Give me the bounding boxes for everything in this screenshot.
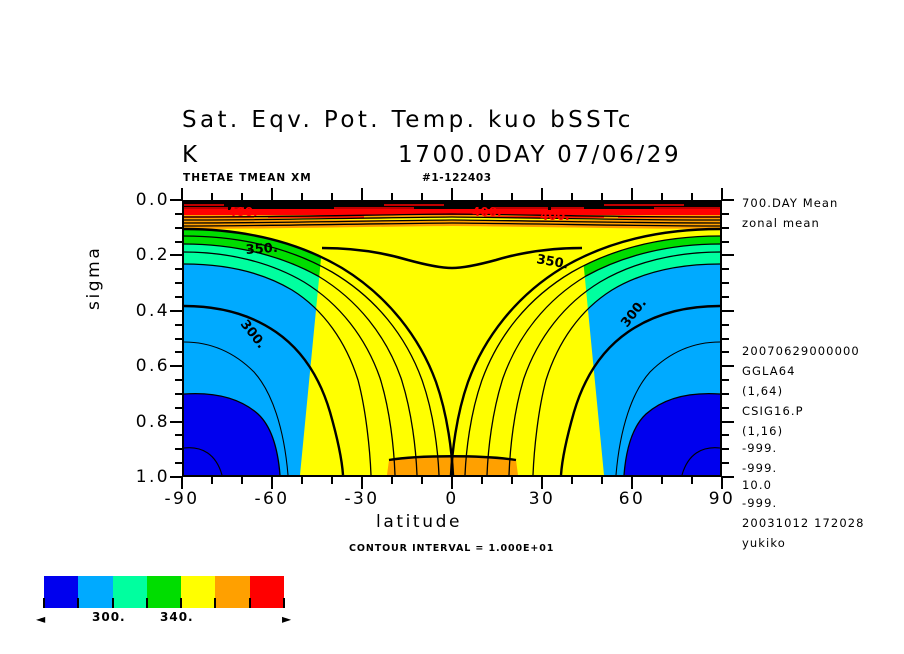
colorbar-swatch [44, 576, 78, 608]
y-minor-tick-left [175, 296, 182, 298]
x-minor-tick [571, 477, 573, 484]
x-minor-tick-top [601, 193, 603, 200]
y-minor-tick-left [175, 241, 182, 243]
x-minor-tick-top [391, 193, 393, 200]
x-minor-tick-top [421, 193, 423, 200]
x-minor-tick [601, 477, 603, 484]
colorbar-tick [180, 598, 182, 608]
x-major-tick-top [271, 188, 273, 200]
y-major-tick-right [722, 310, 734, 312]
y-minor-tick-right [722, 241, 729, 243]
colorbar-label-300: 300. [92, 610, 126, 624]
x-tick-label: -90 [142, 489, 222, 509]
y-axis-title: sigma [84, 246, 104, 310]
y-minor-tick-right [722, 462, 729, 464]
y-minor-tick-left [175, 351, 182, 353]
y-minor-tick-left [175, 213, 182, 215]
y-minor-tick-right [722, 213, 729, 215]
y-minor-tick-left [175, 324, 182, 326]
x-major-tick-top [541, 188, 543, 200]
colorbar-low-arrow: ◄ [36, 612, 45, 626]
y-minor-tick-left [175, 434, 182, 436]
y-minor-tick-right [722, 282, 729, 284]
y-minor-tick-left [175, 227, 182, 229]
x-minor-tick [691, 477, 693, 484]
y-minor-tick-right [722, 268, 729, 270]
x-minor-tick-top [571, 193, 573, 200]
y-minor-tick-left [175, 462, 182, 464]
y-major-tick [170, 310, 182, 312]
y-minor-tick-left [175, 379, 182, 381]
x-major-tick [721, 477, 723, 489]
y-minor-tick-right [722, 393, 729, 395]
x-major-tick [181, 477, 183, 489]
svg-text:350.: 350. [245, 241, 278, 258]
colorbar-tick [249, 598, 251, 608]
x-minor-tick-top [691, 193, 693, 200]
x-minor-tick-top [331, 193, 333, 200]
annotation-interval: 10.0 [742, 478, 772, 492]
y-minor-tick-right [722, 227, 729, 229]
x-tick-label: -60 [232, 489, 312, 509]
x-major-tick-top [361, 188, 363, 200]
colorbar-tick [214, 598, 216, 608]
y-minor-tick-left [175, 393, 182, 395]
x-tick-label: -30 [322, 489, 402, 509]
y-minor-tick-right [722, 434, 729, 436]
svg-text:400.: 400. [472, 205, 502, 219]
x-minor-tick-top [211, 193, 213, 200]
x-tick-label: 0 [412, 489, 492, 509]
x-minor-tick-top [301, 193, 303, 200]
x-tick-label: 30 [502, 489, 582, 509]
x-minor-tick [481, 477, 483, 484]
y-minor-tick-left [175, 448, 182, 450]
y-major-tick [170, 421, 182, 423]
annotation-missing-1: -999. [742, 441, 777, 455]
y-tick-label: 1.0 [108, 467, 170, 487]
x-minor-tick [421, 477, 423, 484]
annotation-grid-range: (1,64) [742, 384, 783, 398]
y-tick-label: 0.8 [108, 412, 170, 432]
y-minor-tick-right [722, 407, 729, 409]
y-minor-tick-right [722, 324, 729, 326]
x-minor-tick-top [481, 193, 483, 200]
y-major-tick-right [722, 254, 734, 256]
y-tick-label: 0.4 [108, 301, 170, 321]
y-minor-tick-right [722, 379, 729, 381]
annotation-mean-period: 700.DAY Mean [742, 196, 838, 210]
contour-interval-label: CONTOUR INTERVAL = 1.000E+01 [349, 543, 554, 554]
x-minor-tick-top [511, 193, 513, 200]
x-minor-tick-top [661, 193, 663, 200]
colorbar-swatch [113, 576, 147, 608]
colorbar-swatch [181, 576, 215, 608]
y-minor-tick-left [175, 338, 182, 340]
annotation-datetime: 20070629000000 [742, 344, 860, 358]
y-minor-tick-left [175, 407, 182, 409]
x-major-tick [271, 477, 273, 489]
units-label: K [182, 142, 200, 168]
x-major-tick [361, 477, 363, 489]
annotation-missing-3: -999. [742, 496, 777, 510]
x-major-tick-top [721, 188, 723, 200]
annotation-created: 20031012 172028 [742, 516, 865, 530]
colorbar-tick [283, 598, 285, 608]
x-major-tick-top [181, 188, 183, 200]
x-tick-label: 60 [592, 489, 672, 509]
run-id-subheader: #1-122403 [422, 172, 492, 184]
contour-field: 350. 350. 300. 300. 400. 400. 400. [184, 202, 720, 475]
y-tick-label: 0.2 [108, 245, 170, 265]
colorbar-swatch [78, 576, 112, 608]
colorbar-high-arrow: ► [282, 612, 291, 626]
colorbar-tick [112, 598, 114, 608]
x-minor-tick [241, 477, 243, 484]
y-major-tick-right [722, 365, 734, 367]
page-title: Sat. Eqv. Pot. Temp. kuo bSSTc [182, 107, 634, 133]
y-minor-tick-left [175, 282, 182, 284]
y-major-tick-right [722, 199, 734, 201]
y-major-tick [170, 365, 182, 367]
y-minor-tick-right [722, 338, 729, 340]
x-minor-tick [511, 477, 513, 484]
annotation-zonal-mean: zonal mean [742, 216, 820, 230]
x-major-tick-top [631, 188, 633, 200]
y-minor-tick-left [175, 268, 182, 270]
x-major-tick-top [451, 188, 453, 200]
y-minor-tick-right [722, 448, 729, 450]
x-minor-tick [301, 477, 303, 484]
x-major-tick [451, 477, 453, 489]
x-major-tick [541, 477, 543, 489]
svg-text:400.: 400. [228, 205, 258, 219]
colorbar-tick [43, 598, 45, 608]
y-major-tick-right [722, 476, 734, 478]
contour-plot-area: 350. 350. 300. 300. 400. 400. 400. [182, 200, 722, 477]
x-major-tick [631, 477, 633, 489]
annotation-author: yukiko [742, 536, 786, 550]
y-minor-tick-right [722, 296, 729, 298]
x-minor-tick [661, 477, 663, 484]
y-major-tick-right [722, 421, 734, 423]
colorbar-swatch [147, 576, 181, 608]
x-minor-tick [211, 477, 213, 484]
svg-text:400.: 400. [540, 209, 570, 223]
colorbar-swatch [250, 576, 284, 608]
x-axis-title: latitude [376, 512, 462, 532]
annotation-level-range: (1,16) [742, 424, 783, 438]
annotation-level-name: CSIG16.P [742, 404, 804, 418]
colorbar-swatch [215, 576, 249, 608]
y-minor-tick-right [722, 351, 729, 353]
x-minor-tick [391, 477, 393, 484]
day-timestamp-label: 1700.0DAY 07/06/29 [398, 142, 681, 168]
annotation-grid-name: GGLA64 [742, 364, 796, 378]
x-minor-tick [331, 477, 333, 484]
x-minor-tick-top [241, 193, 243, 200]
y-major-tick [170, 254, 182, 256]
variable-subheader: THETAE TMEAN XM [183, 172, 312, 184]
colorbar-tick [77, 598, 79, 608]
colorbar-label-340: 340. [160, 610, 194, 624]
annotation-missing-2: -999. [742, 461, 777, 475]
y-tick-label: 0.0 [108, 190, 170, 210]
y-tick-label: 0.6 [108, 356, 170, 376]
colorbar-tick [146, 598, 148, 608]
